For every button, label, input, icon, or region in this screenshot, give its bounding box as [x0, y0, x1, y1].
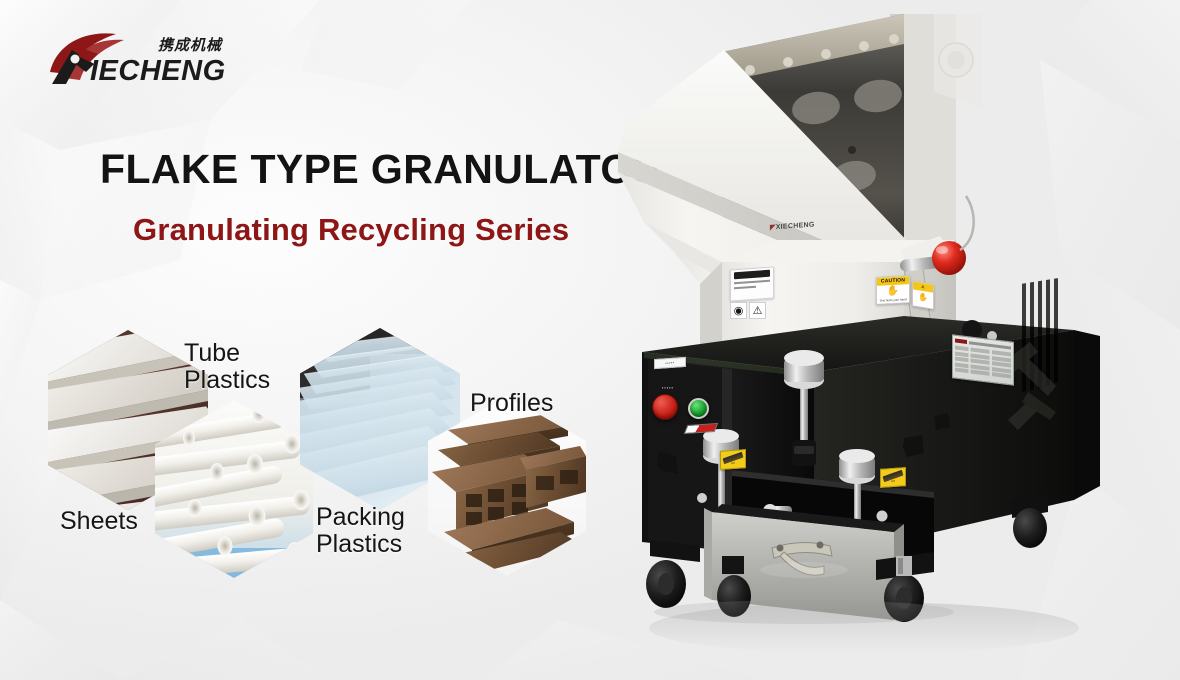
material-label-packing-plastics: Packing Plastics	[316, 504, 405, 558]
pinch-hazard-label-left: ▪▪▪▪	[720, 449, 746, 470]
emergency-stop-button[interactable]	[652, 394, 678, 420]
product-banner: IECHENG 携成机械 FLAKE TYPE GRANULATOR Granu…	[0, 0, 1180, 680]
control-panel-caption: ▪▪▪▪▪	[662, 385, 674, 390]
start-button[interactable]	[688, 398, 709, 419]
logo-wordmark: IECHENG	[90, 55, 226, 87]
cert-badge-1: ◉	[730, 302, 747, 319]
product-info-label	[730, 266, 774, 301]
caution-label-side: ⚠ ✋	[912, 280, 934, 309]
red-ball-handle	[932, 241, 966, 275]
caster-rear-right	[1013, 508, 1047, 548]
cert-badge-2: ⚠	[749, 302, 766, 319]
banner-title: FLAKE TYPE GRANULATOR	[100, 146, 663, 193]
company-logo[interactable]: IECHENG 携成机械	[42, 26, 262, 88]
material-label-tube-plastics: Tube Plastics	[184, 340, 270, 394]
banner-subtitle: Granulating Recycling Series	[133, 212, 569, 248]
logo-chinese-text: 携成机械	[158, 36, 224, 54]
latch-cable	[960, 196, 974, 250]
spec-nameplate	[952, 334, 1014, 386]
certification-badges: ◉ ⚠	[730, 302, 766, 319]
material-label-sheets: Sheets	[60, 508, 138, 535]
caution-label: CAUTION ✋ This hurts your hand	[876, 275, 910, 305]
pinch-hazard-label-right: ▪▪▪▪	[880, 467, 906, 488]
granulator-machine[interactable]: ◤XIECHENG ◉ ⚠ CAUTION ✋ This hurts your …	[604, 0, 1124, 660]
material-label-profiles: Profiles	[470, 390, 553, 417]
material-gallery: Sheets	[0, 318, 600, 608]
